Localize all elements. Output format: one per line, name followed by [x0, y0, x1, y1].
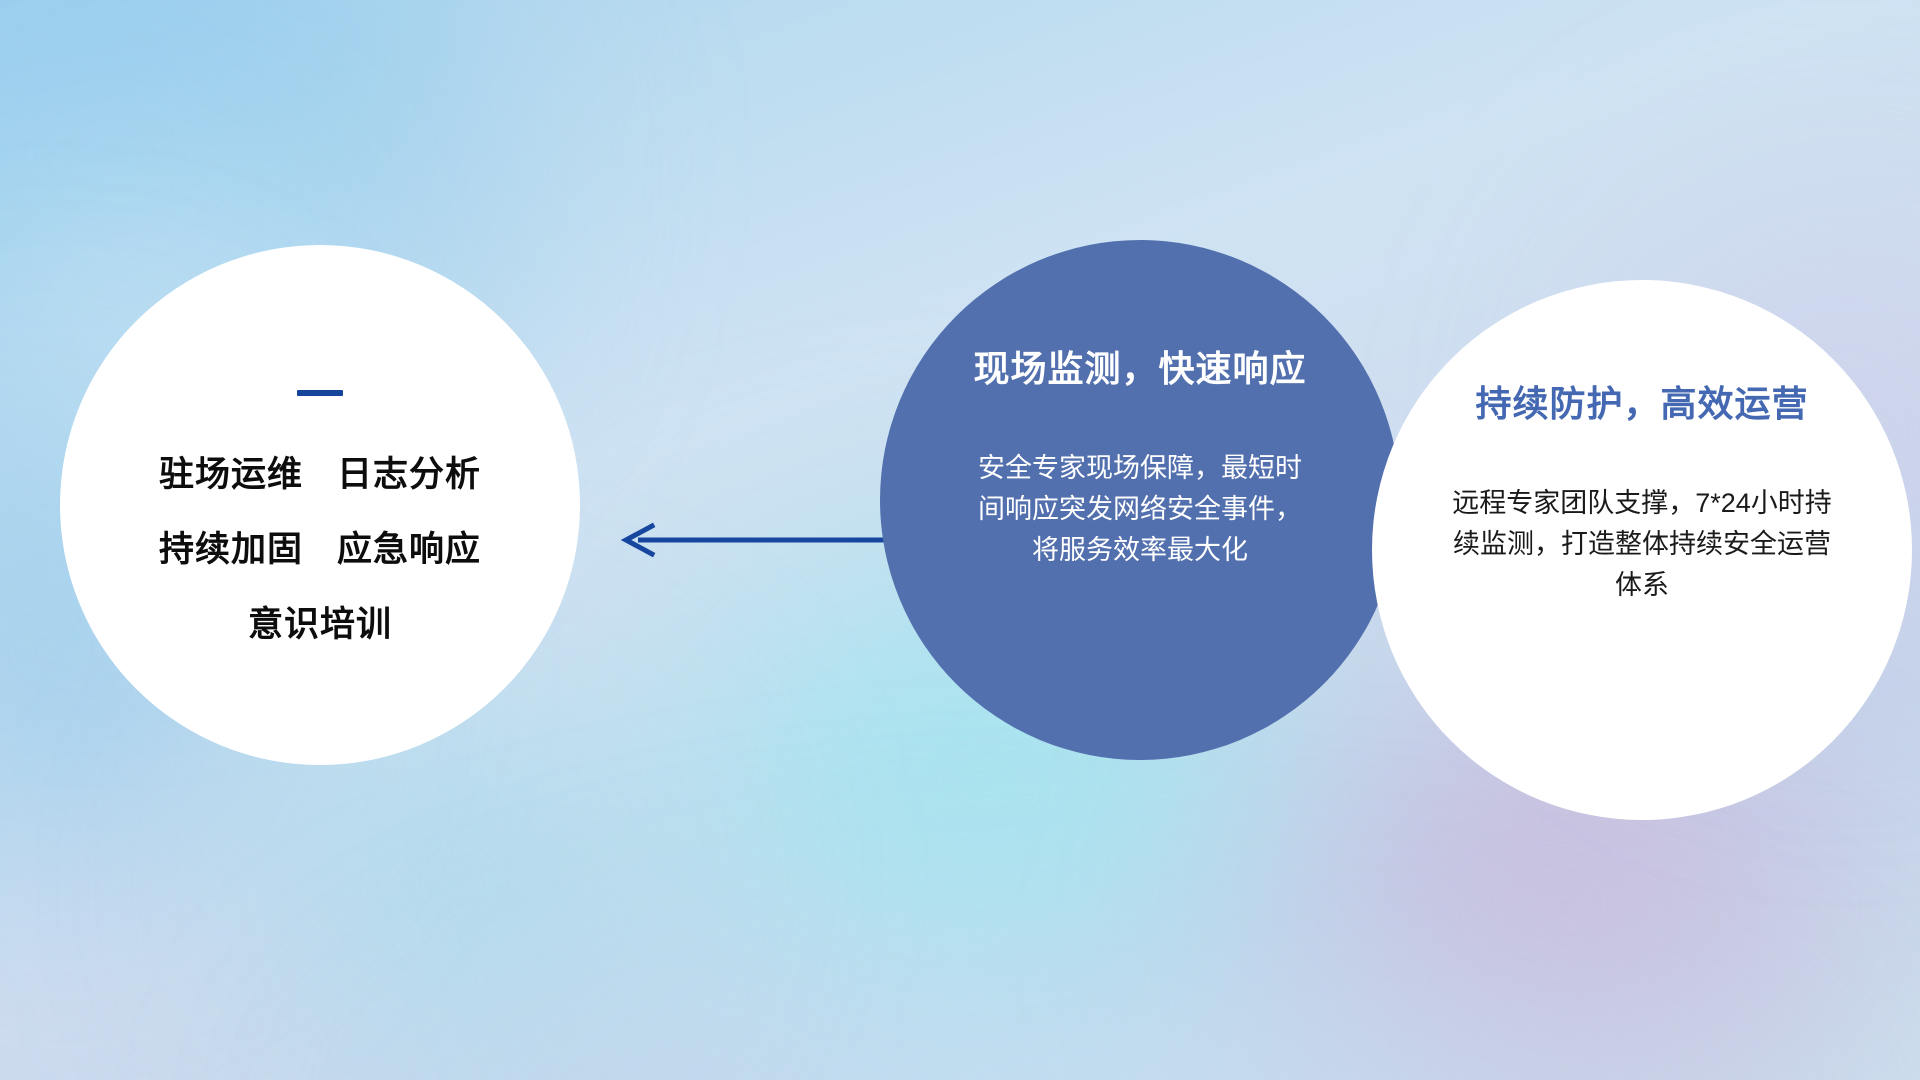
circle-onsite-heading: 现场监测，快速响应 — [973, 340, 1306, 392]
capability-item: 驻场运维 — [159, 446, 303, 497]
circle-continuous-heading: 持续防护，高效运营 — [1475, 375, 1808, 427]
circle-onsite-body: 安全专家现场保障，最短时间响应突发网络安全事件，将服务效率最大化 — [975, 448, 1305, 571]
circle-service-capabilities[interactable]: 驻场运维 日志分析 持续加固 应急响应 意识培训 — [60, 245, 580, 765]
circle-onsite-monitoring[interactable]: 现场监测，快速响应 安全专家现场保障，最短时间响应突发网络安全事件，将服务效率最… — [880, 240, 1400, 760]
divider-bar — [297, 390, 343, 396]
capability-item: 日志分析 — [337, 446, 481, 497]
flow-arrow — [612, 522, 902, 558]
capability-row-3: 意识培训 — [248, 596, 392, 647]
capability-item: 应急响应 — [337, 521, 481, 572]
circle-continuous-protection[interactable]: 持续防护，高效运营 远程专家团队支撑，7*24小时持续监测，打造整体持续安全运营… — [1372, 280, 1912, 820]
circle-continuous-body: 远程专家团队支撑，7*24小时持续监测，打造整体持续安全运营体系 — [1442, 483, 1842, 606]
flow-arrow-icon — [612, 522, 902, 558]
capability-row-1: 驻场运维 日志分析 — [159, 446, 481, 497]
slide-canvas: 现场监测，快速响应 安全专家现场保障，最短时间响应突发网络安全事件，将服务效率最… — [0, 0, 1920, 1080]
capability-list: 驻场运维 日志分析 持续加固 应急响应 意识培训 — [159, 446, 481, 647]
capability-row-2: 持续加固 应急响应 — [159, 521, 481, 572]
capability-item: 持续加固 — [159, 521, 303, 572]
